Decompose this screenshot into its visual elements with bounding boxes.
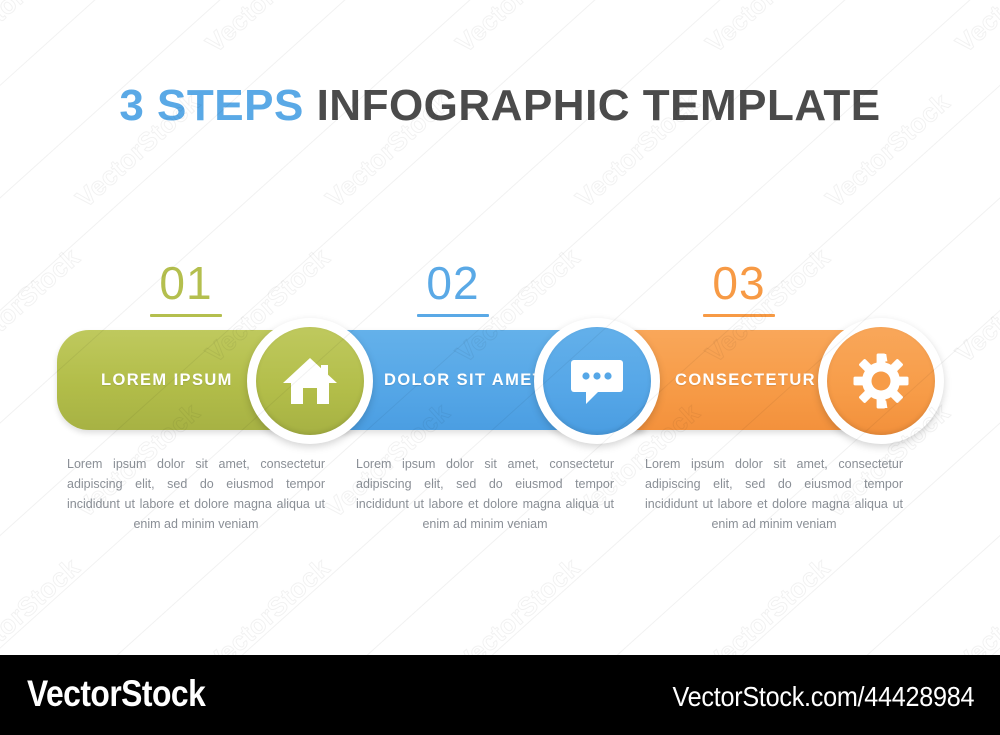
step-number-3-value: 03 (664, 258, 814, 308)
step-number-1-value: 01 (111, 258, 261, 308)
footer-bar: VectorStock VectorStock.com/44428984 (0, 655, 1000, 735)
step-bar-1-label: LOREM IPSUM (101, 371, 233, 390)
step-icon-circle-1[interactable] (247, 318, 373, 444)
step-icon-circle-3[interactable] (818, 318, 944, 444)
icon-disc-1 (256, 327, 364, 435)
step-bar-3-label: CONSECTETUR (675, 371, 816, 390)
title-main-text: INFOGRAPHIC TEMPLATE (317, 81, 881, 130)
step-bar-2-label: DOLOR SIT AMET (384, 371, 544, 390)
step-description-2: Lorem ipsum dolor sit amet, consectetur … (356, 454, 614, 534)
icon-disc-2 (543, 327, 651, 435)
vectorstock-url: VectorStock.com/44428984 (672, 681, 974, 713)
chat-bubble-icon (569, 356, 625, 406)
step-number-2-rule (417, 314, 489, 317)
infographic-canvas: 3 STEPS INFOGRAPHIC TEMPLATE 01 02 03 LO… (0, 0, 1000, 655)
step-description-1: Lorem ipsum dolor sit amet, consectetur … (67, 454, 325, 534)
step-icon-circle-2[interactable] (534, 318, 660, 444)
icon-disc-3 (827, 327, 935, 435)
page-title: 3 STEPS INFOGRAPHIC TEMPLATE (0, 80, 1000, 132)
step-number-2: 02 (378, 258, 528, 317)
vectorstock-logo: VectorStock (27, 673, 205, 715)
home-icon (281, 355, 339, 407)
step-number-2-value: 02 (378, 258, 528, 308)
step-number-1-rule (150, 314, 222, 317)
gear-icon (853, 353, 909, 409)
step-number-3-rule (703, 314, 775, 317)
step-description-3: Lorem ipsum dolor sit amet, consectetur … (645, 454, 903, 534)
title-accent-text: 3 STEPS (119, 81, 303, 130)
step-number-1: 01 (111, 258, 261, 317)
step-number-3: 03 (664, 258, 814, 317)
